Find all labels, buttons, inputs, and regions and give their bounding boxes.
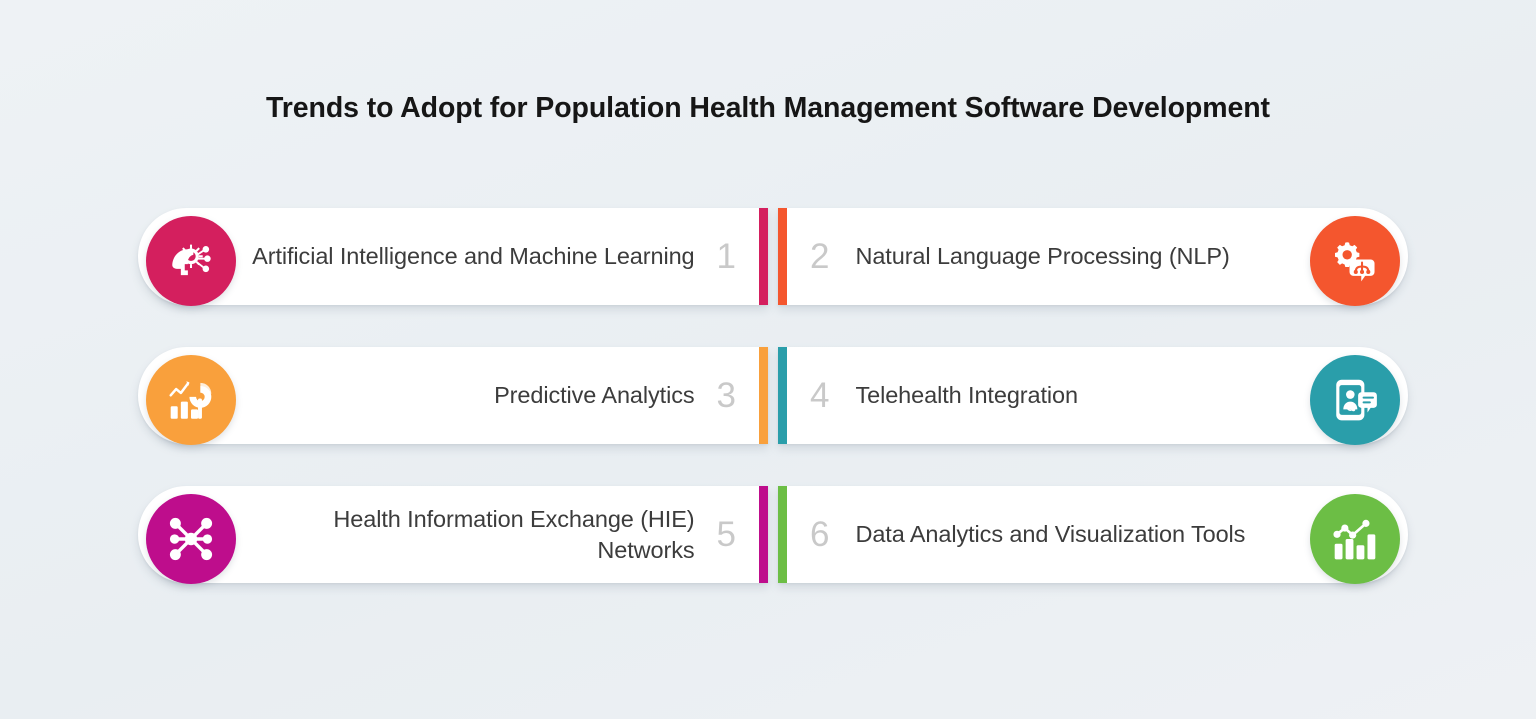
card-label-2: Natural Language Processing (NLP) (855, 241, 1229, 271)
card-label-5: Health Information Exchange (HIE) Networ… (248, 504, 695, 564)
icon-badge-4 (1310, 355, 1400, 445)
trend-card-1[interactable]: Artificial Intelligence and Machine Lear… (138, 198, 768, 323)
trend-card-5[interactable]: Health Information Exchange (HIE) Networ… (138, 476, 768, 601)
card-number-6: 6 (810, 517, 829, 552)
icon-badge-1 (146, 216, 236, 306)
card-number-5: 5 (717, 517, 736, 552)
card-label-3: Predictive Analytics (494, 380, 694, 410)
trend-card-6[interactable]: 6 Data Analytics and Visualization Tools (778, 476, 1408, 601)
trend-card-2[interactable]: 2 Natural Language Processing (NLP) (778, 198, 1408, 323)
card-label-1: Artificial Intelligence and Machine Lear… (252, 241, 694, 271)
infographic-page: Trends to Adopt for Population Health Ma… (0, 0, 1536, 719)
icon-badge-6 (1310, 494, 1400, 584)
card-number-1: 1 (717, 239, 736, 274)
trend-card-3[interactable]: Predictive Analytics 3 (138, 337, 768, 462)
trend-card-4[interactable]: 4 Telehealth Integration (778, 337, 1408, 462)
card-number-3: 3 (717, 378, 736, 413)
trend-card-grid: Artificial Intelligence and Machine Lear… (138, 198, 1408, 601)
icon-badge-5 (146, 494, 236, 584)
page-title: Trends to Adopt for Population Health Ma… (0, 92, 1536, 125)
card-label-6: Data Analytics and Visualization Tools (855, 519, 1245, 549)
phone-doctor-chat-icon (1330, 375, 1380, 425)
card-number-4: 4 (810, 378, 829, 413)
chart-trend-donut-icon (166, 375, 216, 425)
card-label-4: Telehealth Integration (855, 380, 1078, 410)
ai-head-gear-network-icon (166, 236, 216, 286)
card-number-2: 2 (810, 239, 829, 274)
icon-badge-3 (146, 355, 236, 445)
network-hub-nodes-icon (166, 514, 216, 564)
gear-speech-bubble-icon (1330, 236, 1380, 286)
bar-chart-line-icon (1330, 514, 1380, 564)
icon-badge-2 (1310, 216, 1400, 306)
